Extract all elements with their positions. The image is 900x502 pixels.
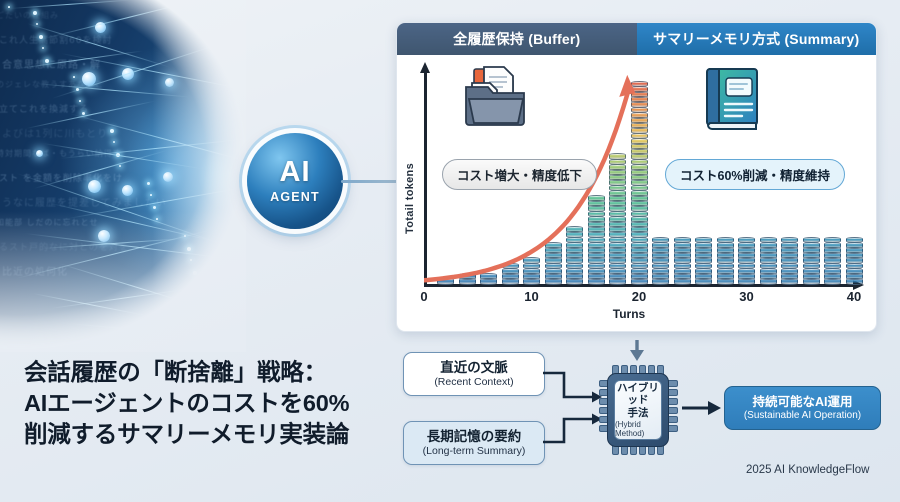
ai-agent-badge: AI AGENT <box>247 133 343 229</box>
chip-label-jp-2: 手法 <box>628 407 649 419</box>
chart-bar <box>545 245 562 285</box>
chart-bar <box>674 240 691 285</box>
x-tick: 40 <box>847 289 861 304</box>
chart-bar <box>695 240 712 285</box>
x-tick: 20 <box>632 289 646 304</box>
x-tick: 10 <box>524 289 538 304</box>
agent-panel-connector <box>341 180 401 183</box>
token-growth-chart: Totail tokens 010203040 Turns <box>397 55 876 331</box>
ai-network-hero-image: ごたいの仕組みこれ人生高節割60を検討合意思想に原路・解のジェレな教うすあなもこ… <box>0 0 246 352</box>
chart-bar <box>824 240 841 285</box>
agent-subtitle: AGENT <box>270 190 320 204</box>
hybrid-flow-diagram: 直近の文脈 (Recent Context) 長期記憶の要約 (Long-ter… <box>396 340 888 500</box>
x-tick: 0 <box>420 289 427 304</box>
chart-bar <box>760 240 777 285</box>
chip-label-en: (Hybrid Method) <box>615 420 661 438</box>
chart-bar <box>652 240 669 285</box>
chart-bar <box>523 257 540 285</box>
comparison-panel: 全履歴保持 (Buffer) サマリーメモリ方式 (Summary) Totai… <box>396 22 877 332</box>
flow-output-jp: 持続可能なAI運用 <box>752 395 852 409</box>
title-line-3: 削減するサマリーメモリ実装論 <box>24 419 349 450</box>
summary-book-icon <box>702 63 764 133</box>
folder-documents-icon <box>460 65 532 127</box>
flow-output-sustainable-ai: 持続可能なAI運用 (Sustainable AI Operation) <box>724 386 881 430</box>
chart-bar <box>502 266 519 285</box>
hero-shape-mask <box>0 0 246 352</box>
chart-bar <box>566 225 583 285</box>
title-line-1: 会話履歴の「断捨離」戦略： <box>24 357 349 388</box>
page-title: 会話履歴の「断捨離」戦略： AIエージェントのコストを60% 削減するサマリーメ… <box>24 357 349 449</box>
chip-label-jp-1: ハイブリッド <box>615 382 661 407</box>
badge-cost-reduction: コスト60%削減・精度維持 <box>665 159 845 190</box>
slide-canvas: ごたいの仕組みこれ人生高節割60を検討合意思想に原路・解のジェレな教うすあなもこ… <box>0 0 900 502</box>
x-tick: 30 <box>739 289 753 304</box>
credit-text: 2025 AI KnowledgeFlow <box>746 464 869 476</box>
chart-bar <box>480 272 497 285</box>
chart-bar <box>437 279 454 285</box>
chart-bar <box>803 240 820 285</box>
chart-bar <box>609 155 626 285</box>
chart-bar <box>738 240 755 285</box>
header-buffer-label: 全履歴保持 (Buffer) <box>397 23 637 55</box>
chart-bar <box>846 240 863 285</box>
chart-bar <box>588 198 605 285</box>
chart-bar <box>631 81 648 285</box>
x-axis-label: Turns <box>613 307 645 321</box>
hybrid-method-chip: ハイブリッド 手法 (Hybrid Method) <box>598 364 676 454</box>
chart-bar <box>781 240 798 285</box>
chart-bar <box>717 240 734 285</box>
badge-cost-increase: コスト増大・精度低下 <box>442 159 597 190</box>
title-line-2: AIエージェントのコストを60% <box>24 388 349 419</box>
agent-title: AI <box>280 158 311 187</box>
header-summary-label: サマリーメモリ方式 (Summary) <box>637 23 877 55</box>
panel-header: 全履歴保持 (Buffer) サマリーメモリ方式 (Summary) <box>397 23 876 55</box>
chip-core: ハイブリッド 手法 (Hybrid Method) <box>614 380 662 440</box>
y-axis-label: Totail tokens <box>404 163 416 234</box>
flow-output-en: (Sustainable AI Operation) <box>744 410 861 421</box>
chip-body: ハイブリッド 手法 (Hybrid Method) <box>607 373 669 447</box>
chart-bar <box>459 276 476 285</box>
